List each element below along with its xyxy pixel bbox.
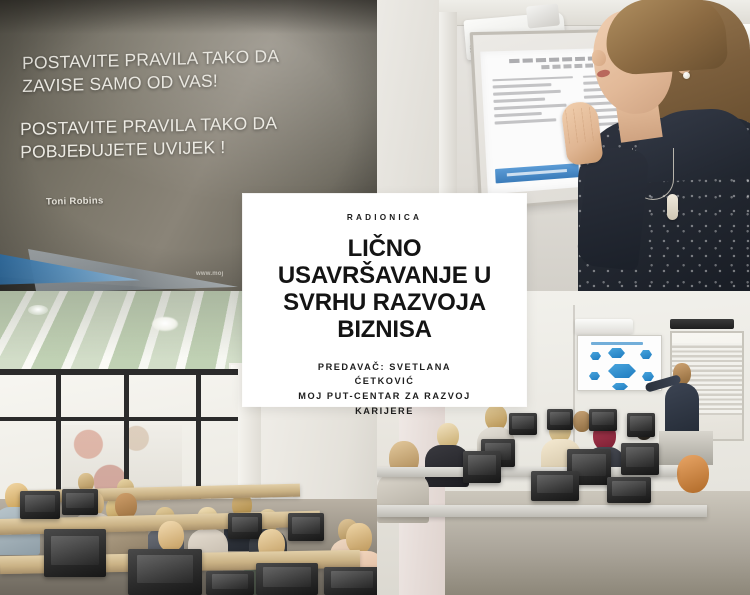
presenter-necklace-pendant — [667, 194, 678, 220]
monitor — [627, 413, 655, 437]
slide-text-line — [493, 98, 545, 103]
diagram-node — [640, 350, 652, 359]
card-title-line-2: USAVRŠAVANJE U — [278, 263, 491, 290]
card-title: LIČNO USAVRŠAVANJE U SVRHU RAZVOJA BIZNI… — [278, 236, 491, 344]
presenter-hair-front — [604, 0, 729, 76]
ceiling-light — [28, 305, 48, 315]
monitor — [256, 563, 318, 595]
card-title-line-4: BIZNISA — [278, 317, 491, 344]
window-frame-bar — [0, 369, 238, 375]
monitor — [531, 471, 579, 501]
monitor — [44, 529, 106, 577]
diagram-node — [589, 372, 600, 380]
desk-row — [377, 505, 707, 517]
diagram-node — [590, 352, 601, 360]
window-frame-bar — [0, 417, 238, 421]
student-head — [158, 521, 184, 552]
card-title-line-3: SVRHU RAZVOJA — [278, 290, 491, 317]
window-frame-bar — [56, 369, 61, 501]
monitor — [589, 409, 617, 431]
photo-collage: POSTAVITE PRAVILA TAKO DA ZAVISE SAMO OD… — [0, 0, 750, 595]
monitor — [228, 513, 262, 539]
monitor — [509, 413, 537, 435]
slide-heading-line — [591, 342, 642, 345]
monitor — [607, 477, 651, 503]
air-conditioner — [575, 319, 633, 334]
monitor — [62, 489, 98, 515]
window-frame-bar — [196, 369, 201, 501]
card-eyebrow: RADIONICA — [347, 213, 422, 222]
card-subtitle-line-4: KARIJERE — [298, 404, 470, 419]
monitor — [128, 549, 202, 595]
card-subtitle-line-2: ĆETKOVIĆ — [298, 374, 470, 389]
monitor — [206, 571, 254, 595]
monitor — [547, 409, 573, 430]
monitor — [324, 567, 377, 595]
card-title-line-1: LIČNO — [278, 236, 491, 263]
card-subtitle: PREDAVAČ: SVETLANA ĆETKOVIĆ MOJ PUT-CENT… — [298, 360, 470, 420]
title-card: RADIONICA LIČNO USAVRŠAVANJE U SVRHU RAZ… — [243, 194, 526, 406]
diagram-node-center — [608, 364, 636, 378]
student-head-rear — [677, 455, 709, 493]
presenter-raised-hand — [560, 100, 603, 166]
diagram-node — [642, 372, 654, 381]
presenter-nose — [592, 50, 606, 66]
monitor — [463, 451, 501, 483]
diagram-node — [608, 348, 625, 358]
presenter-earring — [683, 72, 690, 79]
slide-text-line — [494, 112, 541, 117]
slide-text-line — [493, 84, 551, 89]
projection-screen-roll — [670, 319, 734, 329]
monitor — [621, 443, 659, 475]
monitor — [20, 491, 60, 519]
card-subtitle-line-1: PREDAVAČ: SVETLANA — [298, 360, 470, 375]
presenter-figure — [546, 0, 750, 291]
ceiling-light — [152, 317, 178, 331]
diagram-node — [612, 383, 628, 390]
card-subtitle-line-3: MOJ PUT-CENTAR ZA RAZVOJ — [298, 389, 470, 404]
monitor — [288, 513, 324, 541]
